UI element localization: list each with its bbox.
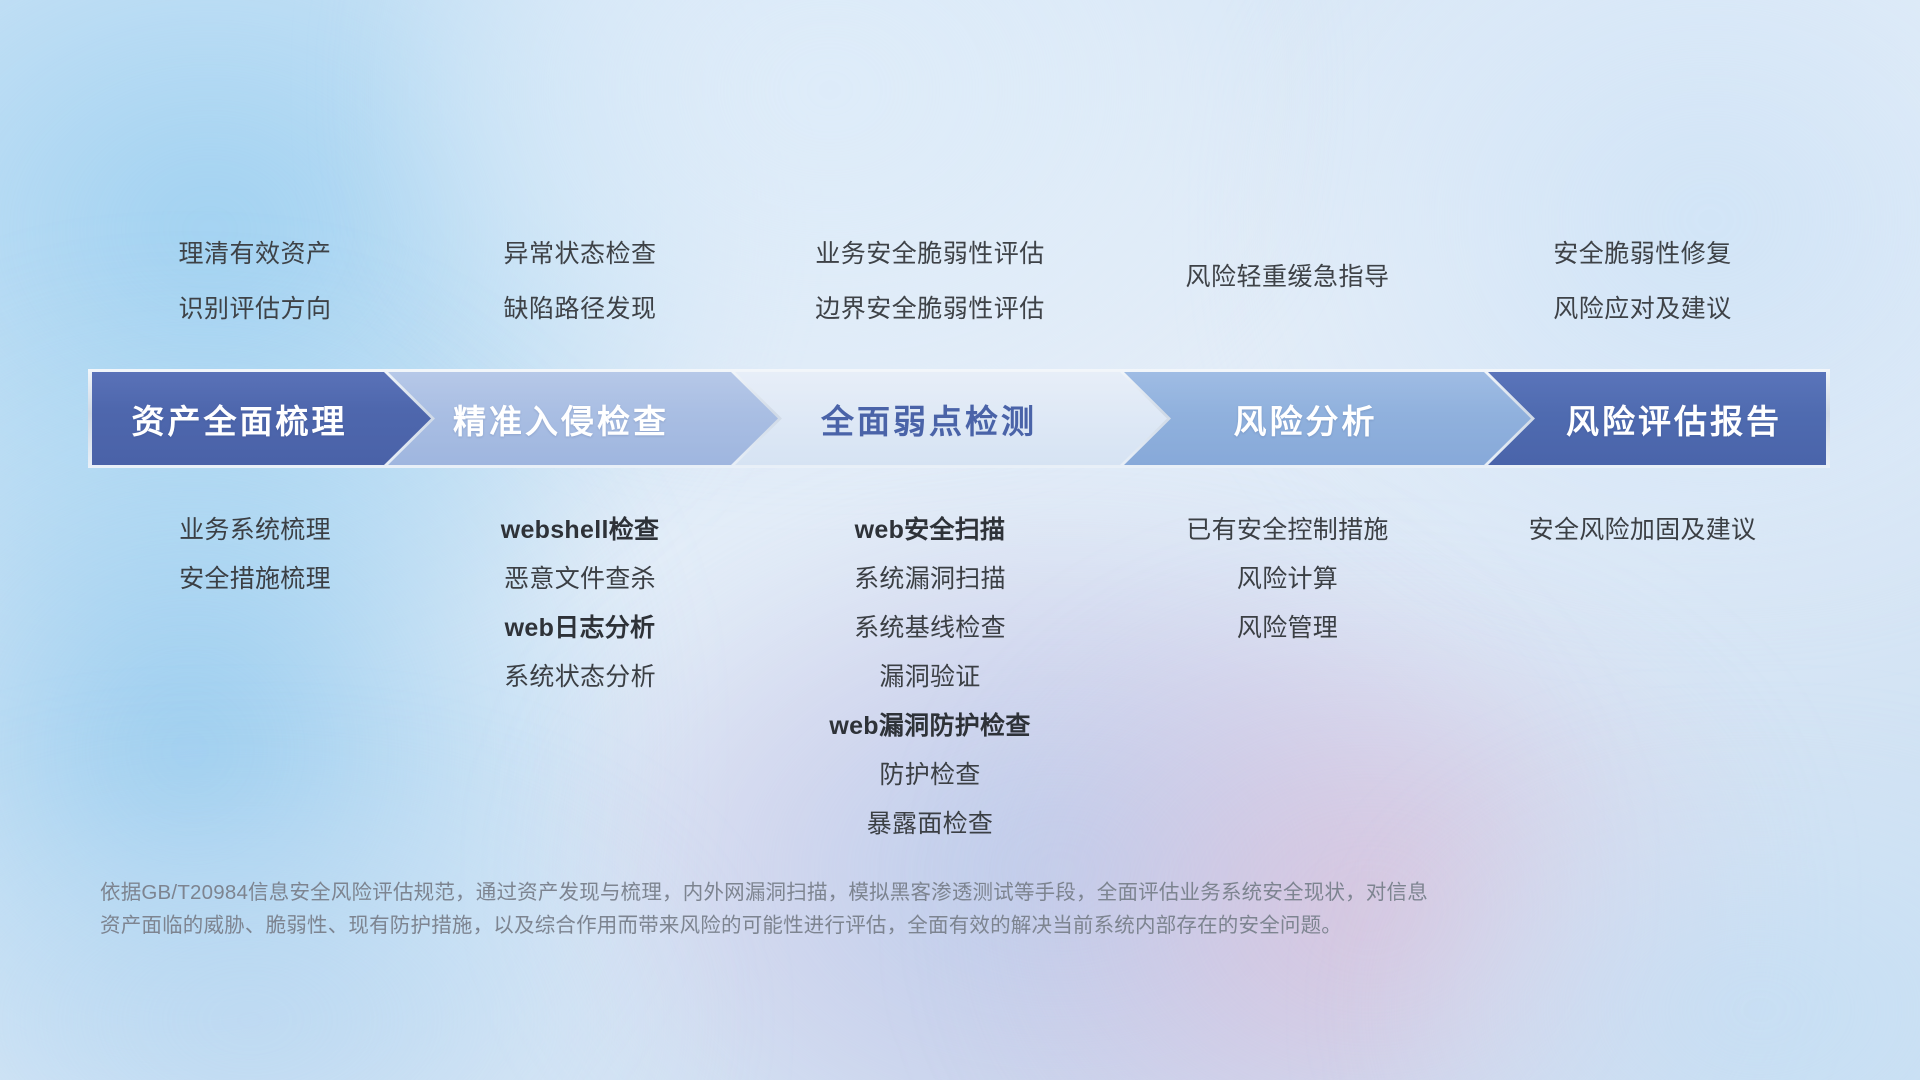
stage-2-bottom-items: web安全扫描 系统漏洞扫描 系统基线检查 漏洞验证 web漏洞防护检查 防护检… <box>745 518 1115 837</box>
stage-1-bottom-item-3: 系统状态分析 <box>415 665 745 690</box>
stage-2-bottom-item-4: web漏洞防护检查 <box>745 714 1115 739</box>
stage-2-bottom-item-0: web安全扫描 <box>745 518 1115 543</box>
stage-4-top-items: 安全脆弱性修复 风险应对及建议 <box>1460 242 1825 322</box>
stage-0-bottom-items: 业务系统梳理 安全措施梳理 <box>95 518 415 592</box>
stage-1-bottom-item-2: web日志分析 <box>415 616 745 641</box>
footnote-line-1: 依据GB/T20984信息安全风险评估规范，通过资产发现与梳理，内外网漏洞扫描，… <box>100 876 1640 909</box>
stage-3-top-items: 风险轻重缓急指导 <box>1115 265 1460 290</box>
stage-0-top-items: 理清有效资产 识别评估方向 <box>95 242 415 322</box>
chevron-stage-2-label: 全面弱点检测 <box>821 395 1037 443</box>
stage-4-bottom-items: 安全风险加固及建议 <box>1460 518 1825 543</box>
chevron-stage-1-label: 精准入侵检查 <box>453 395 669 443</box>
chevron-stage-1[interactable]: 精准入侵检查 <box>388 372 778 465</box>
stage-2-bottom-item-6: 暴露面检查 <box>745 812 1115 837</box>
chevron-stage-3-label: 风险分析 <box>1234 395 1378 443</box>
stage-3-bottom-item-0: 已有安全控制措施 <box>1115 518 1460 543</box>
stage-1-bottom-items: webshell检查 恶意文件查杀 web日志分析 系统状态分析 <box>415 518 745 690</box>
stage-3-bottom-items: 已有安全控制措施 风险计算 风险管理 <box>1115 518 1460 641</box>
stage-2-bottom-item-5: 防护检查 <box>745 763 1115 788</box>
stage-0-bottom-item-1: 安全措施梳理 <box>95 567 415 592</box>
stage-2-top-item-1: 边界安全脆弱性评估 <box>745 297 1115 322</box>
stage-4-bottom-item-0: 安全风险加固及建议 <box>1460 518 1825 543</box>
stage-0-top-item-0: 理清有效资产 <box>95 242 415 267</box>
stage-1-top-items: 异常状态检查 缺陷路径发现 <box>415 242 745 322</box>
chevron-stage-4[interactable]: 风险评估报告 <box>1488 372 1826 465</box>
process-chevron-band: 资产全面梳理 精准入侵检查 全面弱点检测 风险分析 风险评估报告 <box>88 372 1830 465</box>
stage-2-top-items: 业务安全脆弱性评估 边界安全脆弱性评估 <box>745 242 1115 322</box>
stage-1-bottom-item-0: webshell检查 <box>415 518 745 543</box>
stage-2-bottom-item-1: 系统漏洞扫描 <box>745 567 1115 592</box>
stage-4-top-item-1: 风险应对及建议 <box>1460 297 1825 322</box>
chevron-stage-3[interactable]: 风险分析 <box>1124 372 1531 465</box>
stage-3-bottom-item-1: 风险计算 <box>1115 567 1460 592</box>
stage-2-bottom-item-3: 漏洞验证 <box>745 665 1115 690</box>
stage-1-bottom-item-1: 恶意文件查杀 <box>415 567 745 592</box>
chevron-stage-2[interactable]: 全面弱点检测 <box>735 372 1167 465</box>
stage-4-top-item-0: 安全脆弱性修复 <box>1460 242 1825 267</box>
chevron-stage-4-label: 风险评估报告 <box>1566 395 1782 443</box>
footnote-line-2: 资产面临的威胁、脆弱性、现有防护措施，以及综合作用而带来风险的可能性进行评估，全… <box>100 909 1640 942</box>
stage-3-bottom-item-2: 风险管理 <box>1115 616 1460 641</box>
footnote: 依据GB/T20984信息安全风险评估规范，通过资产发现与梳理，内外网漏洞扫描，… <box>100 876 1640 942</box>
stage-3-top-item-0: 风险轻重缓急指导 <box>1115 265 1460 290</box>
chevron-stage-0-label: 资产全面梳理 <box>132 395 348 443</box>
stage-0-top-item-1: 识别评估方向 <box>95 297 415 322</box>
stage-2-top-item-0: 业务安全脆弱性评估 <box>745 242 1115 267</box>
chevron-stage-0[interactable]: 资产全面梳理 <box>92 372 431 465</box>
stage-1-top-item-1: 缺陷路径发现 <box>415 297 745 322</box>
stage-2-bottom-item-2: 系统基线检查 <box>745 616 1115 641</box>
stage-0-bottom-item-0: 业务系统梳理 <box>95 518 415 543</box>
process-diagram: 理清有效资产 识别评估方向 业务系统梳理 安全措施梳理 异常状态检查 缺陷路径发… <box>0 0 1920 1080</box>
stage-1-top-item-0: 异常状态检查 <box>415 242 745 267</box>
